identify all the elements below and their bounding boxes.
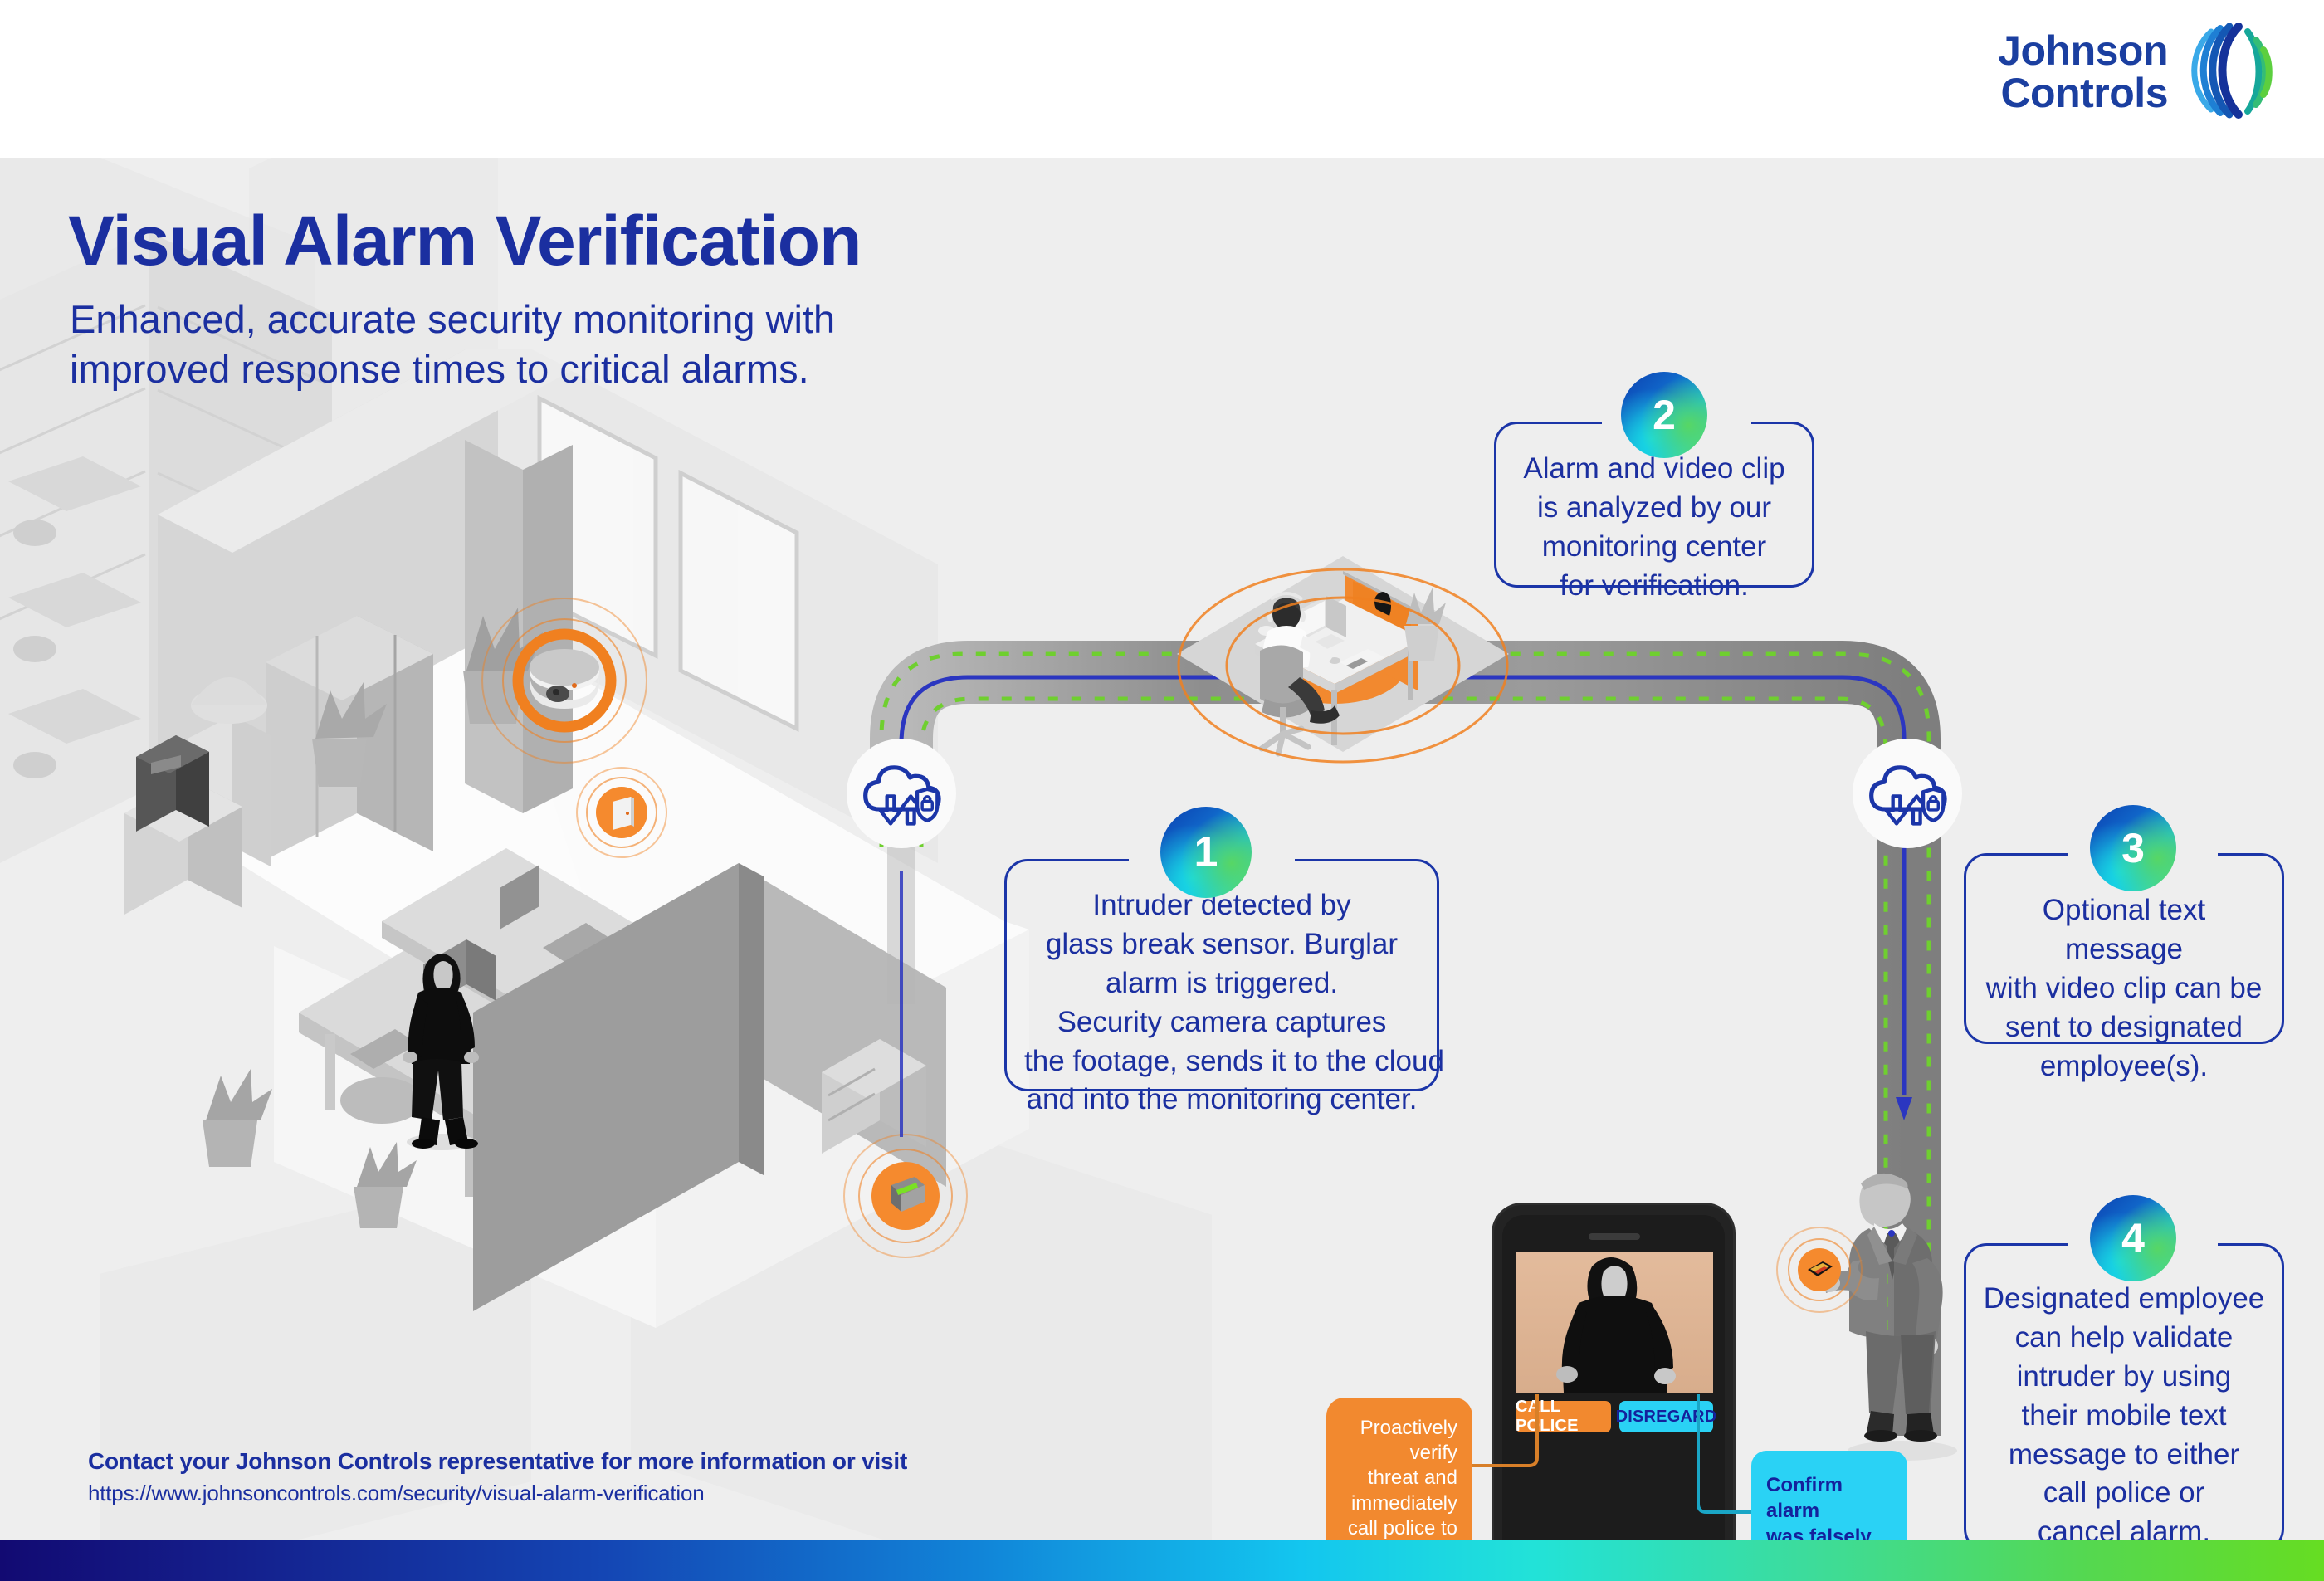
infographic-canvas: Visual Alarm Verification Enhanced, accu…: [0, 158, 2324, 1540]
footer-contact-block: Contact your Johnson Controls representa…: [88, 1448, 907, 1506]
subtitle-line-2: improved response times to critical alar…: [70, 344, 835, 394]
page-header: Johnson Controls: [0, 0, 2324, 158]
video-clip-intruder-image: [1516, 1252, 1713, 1393]
callout-3-line-4: employee(s).: [1982, 1047, 2266, 1086]
note-orange-line-3: threat and: [1336, 1466, 1457, 1491]
cloud-secure-icon: [1864, 757, 1950, 830]
note-call-police: Proactively verify threat and immediatel…: [1326, 1398, 1472, 1540]
callout-card-4: [1964, 1243, 2284, 1540]
phone-speaker-grill: [1589, 1233, 1640, 1240]
note-disregard: Confirm alarm was falsely triggered and …: [1751, 1451, 1907, 1540]
johnson-controls-logo: Johnson Controls: [1998, 23, 2273, 121]
page-subtitle: Enhanced, accurate security monitoring w…: [70, 295, 835, 394]
subtitle-line-1: Enhanced, accurate security monitoring w…: [70, 295, 835, 344]
dome-camera-icon: [508, 624, 621, 737]
monitoring-center-scene: [1169, 544, 1517, 810]
johnson-controls-globe-icon: [2186, 23, 2273, 121]
brand-gradient-bar: [0, 1540, 2324, 1581]
step-badge-3: 3: [2090, 805, 2176, 891]
logo-wordmark: Johnson Controls: [1998, 30, 2168, 115]
page-title: Visual Alarm Verification: [68, 201, 861, 281]
door-contact-sensor-icon: [609, 797, 636, 830]
phone-video-clip: [1516, 1252, 1713, 1393]
note-orange-line-4: immediately: [1336, 1491, 1457, 1516]
note-orange-line-1: Proactively: [1336, 1416, 1457, 1441]
designated-employee-figure: [1816, 1162, 1982, 1461]
intruder-figure: [390, 944, 490, 1152]
logo-line-2: Controls: [1998, 72, 2168, 115]
logo-line-1: Johnson: [1998, 30, 2168, 72]
monitoring-center-illustration: [1169, 544, 1517, 793]
step-badge-2: 2: [1621, 372, 1707, 458]
footer-contact-line: Contact your Johnson Controls representa…: [88, 1448, 907, 1475]
cloud-secure-badge-left: [847, 739, 956, 848]
office-room-isometric: [108, 349, 1087, 1452]
step-badge-4: 4: [2090, 1195, 2176, 1281]
note-cyan-line-1: Confirm alarm: [1766, 1472, 1899, 1524]
footer-url[interactable]: https://www.johnsoncontrols.com/security…: [88, 1481, 907, 1506]
step-badge-1: 1: [1160, 807, 1252, 898]
connector-call-police: [1461, 1394, 1560, 1486]
note-orange-line-5: call police to: [1336, 1516, 1457, 1540]
mobile-alert-icon: [1806, 1258, 1834, 1281]
cloud-secure-badge-right: [1853, 739, 1962, 848]
glass-break-sensor-icon: [885, 1174, 928, 1218]
cloud-secure-icon: [858, 757, 945, 830]
note-orange-line-2: verify: [1336, 1441, 1457, 1466]
note-cyan-line-2: was falsely: [1766, 1524, 1899, 1540]
